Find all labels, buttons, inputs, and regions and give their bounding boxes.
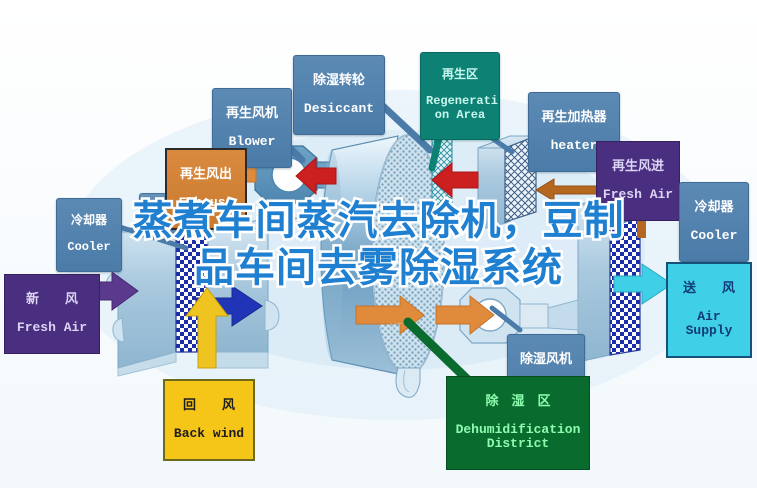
label-regeneration-fresh-air-cn: 再生风进 (602, 159, 674, 174)
label-dehumidification-district-cn: 除 湿 区 (452, 394, 584, 409)
overlay-title-line-1: 蒸煮车间蒸汽去除机，豆制 (0, 198, 757, 245)
svg-text:XT: XT (390, 322, 403, 333)
label-desiccant-rotor-cn: 除湿转轮 (299, 73, 379, 88)
overlay-title-line-2: 品车间去雾除湿系统 (0, 245, 757, 292)
label-back-wind: 回 风 Back wind (163, 379, 255, 461)
condensate-drain (396, 368, 420, 397)
label-back-wind-en: Back wind (170, 427, 248, 442)
dehumidifier-system-diagram: XT 除湿转轮 Desiccant 再生风机 Blower 再生风出 Exhau… (0, 0, 757, 488)
label-desiccant-rotor-en: Desiccant (299, 102, 379, 117)
label-regeneration-exhaust-cn: 再生风出 (172, 167, 240, 182)
label-regeneration-area-cn: 再生区 (426, 68, 494, 81)
label-dehumidification-district-en: Dehumidification District (452, 423, 584, 452)
label-regeneration-heater-cn: 再生加热器 (534, 110, 614, 125)
label-regeneration-blower-cn: 再生风机 (218, 106, 286, 121)
label-back-wind-cn: 回 风 (170, 398, 248, 413)
label-dehumidification-blower-cn: 除湿风机 (513, 352, 579, 367)
label-regeneration-area: 再生区 Regenerati on Area (420, 52, 500, 140)
label-desiccant-rotor: 除湿转轮 Desiccant (293, 55, 385, 135)
label-air-supply-en: Air Supply (673, 310, 745, 339)
label-fresh-air-cn: 新 风 (10, 292, 94, 307)
label-fresh-air-en: Fresh Air (10, 321, 94, 336)
label-regeneration-area-en: Regenerati on Area (426, 95, 494, 122)
overlay-title: 蒸煮车间蒸汽去除机，豆制 品车间去雾除湿系统 (0, 198, 757, 292)
label-dehumidification-district: 除 湿 区 Dehumidification District (446, 376, 590, 470)
label-regeneration-blower-en: Blower (218, 135, 286, 150)
